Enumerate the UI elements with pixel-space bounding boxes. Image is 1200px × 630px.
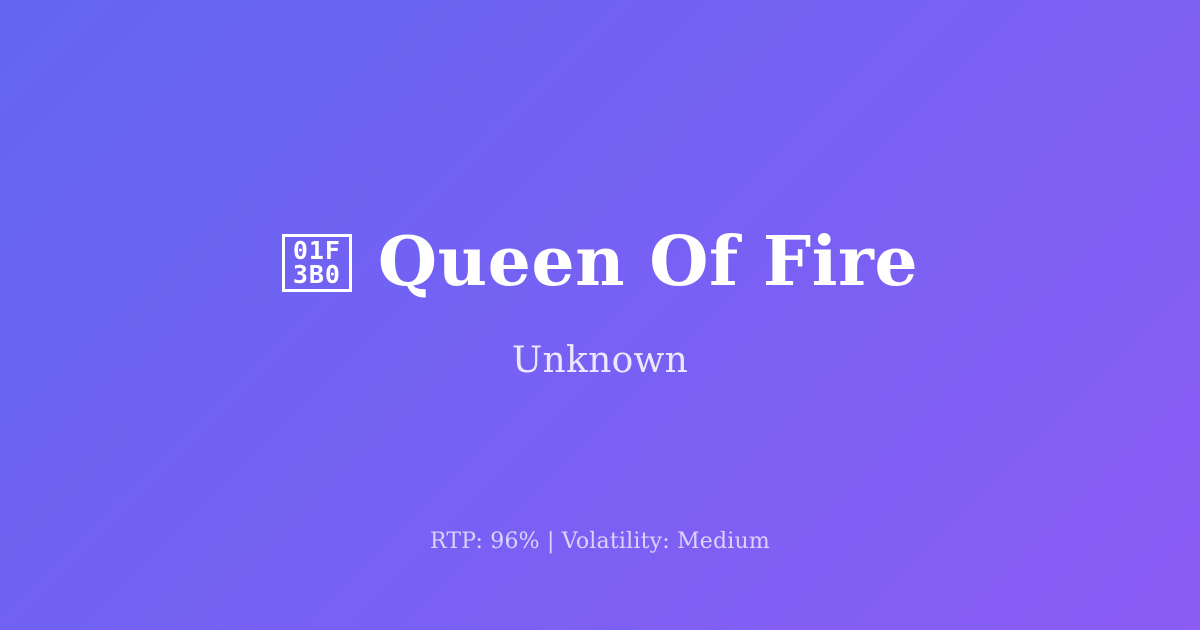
game-meta-line: RTP: 96% | Volatility: Medium xyxy=(0,529,1200,554)
title-row: 01F 3B0 Queen Of Fire xyxy=(282,228,918,296)
provider-subtitle: Unknown xyxy=(512,340,688,381)
og-preview-card: 01F 3B0 Queen Of Fire Unknown RTP: 96% |… xyxy=(0,0,1200,630)
slot-machine-icon: 01F 3B0 xyxy=(282,234,352,292)
hero-block: 01F 3B0 Queen Of Fire Unknown xyxy=(0,228,1200,381)
page-title: Queen Of Fire xyxy=(378,228,918,296)
slot-machine-icon-codepoint-bottom: 3B0 xyxy=(293,263,341,287)
